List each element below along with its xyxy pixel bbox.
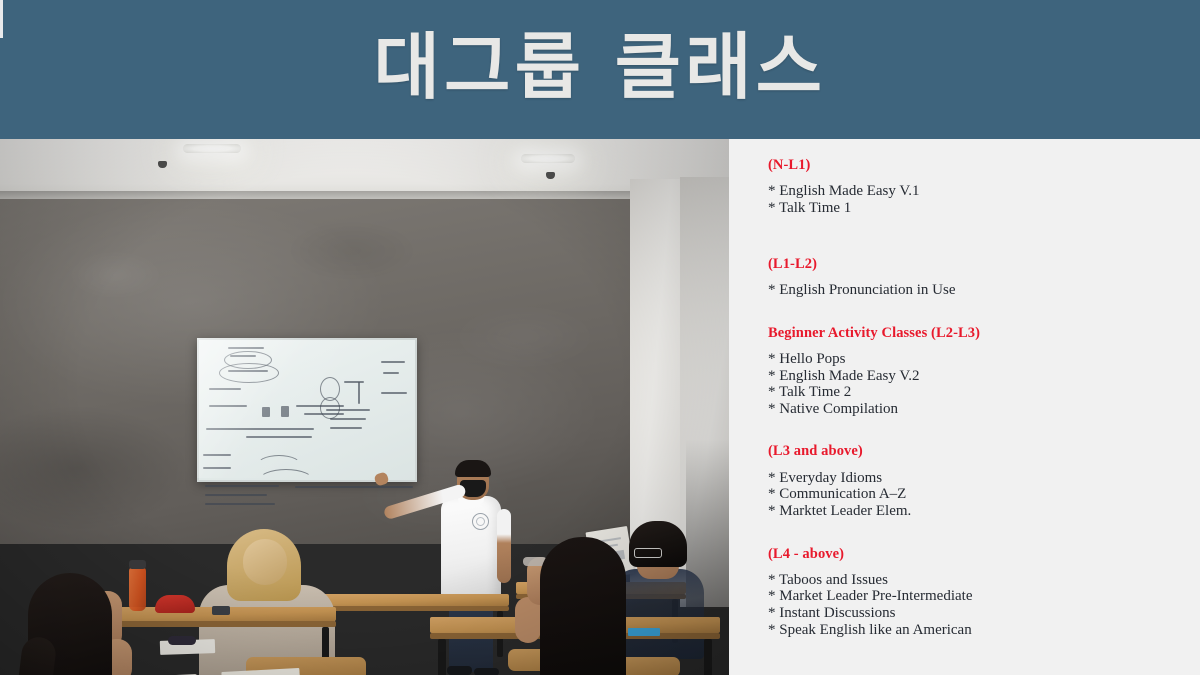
teacher-shoe [474, 668, 499, 675]
corner-notch [0, 0, 3, 38]
board-mark [209, 405, 247, 407]
student-hair-bun [243, 539, 287, 585]
list-item: * Hello Pops [768, 351, 1180, 368]
eyeglasses-icon [634, 548, 662, 558]
spacer [768, 417, 1180, 443]
water-bottle [129, 567, 146, 611]
bottle-cap [129, 560, 146, 569]
board-mark [205, 503, 275, 505]
spacer [768, 520, 1180, 546]
teacher-polo-shirt [441, 496, 501, 602]
blue-book [628, 628, 660, 636]
section-heading: Beginner Activity Classes (L2-L3) [768, 325, 1180, 342]
desk-surface [302, 594, 509, 606]
list-item: * Native Compilation [768, 401, 1180, 418]
board-mark [205, 485, 279, 487]
section-heading: (L4 - above) [768, 546, 1180, 563]
board-mark [262, 407, 270, 417]
ceiling-light-right-icon [521, 154, 575, 163]
board-mark [203, 467, 231, 469]
list-item: * Talk Time 1 [768, 200, 1180, 217]
phone [212, 606, 230, 615]
course-list: * Taboos and Issues * Market Leader Pre-… [768, 572, 1180, 638]
list-item: * English Pronunciation in Use [768, 282, 1180, 299]
student-hair [629, 521, 687, 567]
list-item: * Communication A–Z [768, 486, 1180, 503]
list-item: * Instant Discussions [768, 605, 1180, 622]
list-item: * Talk Time 2 [768, 384, 1180, 401]
desk-edge [96, 621, 336, 627]
course-section-l4-above: (L4 - above) * Taboos and Issues * Marke… [768, 546, 1180, 639]
red-cap [155, 595, 195, 613]
list-item: * Speak English like an American [768, 622, 1180, 639]
course-section-n-l1: (N-L1) * English Made Easy V.1 * Talk Ti… [768, 157, 1180, 217]
board-mark [330, 427, 362, 429]
board-mark [358, 382, 360, 404]
course-section-l3-and-above: (L3 and above) * Everyday Idioms * Commu… [768, 443, 1180, 519]
board-mark [383, 372, 399, 374]
course-list: * Hello Pops * English Made Easy V.2 * T… [768, 351, 1180, 417]
slide: 대그룹 클래스 [0, 0, 1200, 675]
student-long-black-hair [540, 537, 626, 675]
section-heading: (N-L1) [768, 157, 1180, 174]
course-section-l1-l2: (L1-L2) * English Pronunciation in Use [768, 256, 1180, 299]
board-mark [230, 355, 256, 357]
course-list: * Everyday Idioms * Communication A–Z * … [768, 470, 1180, 520]
list-item: * Taboos and Issues [768, 572, 1180, 589]
ceiling-light-left-icon [183, 144, 241, 153]
course-list: * English Pronunciation in Use [768, 282, 1180, 299]
board-mark [344, 381, 364, 383]
board-mark [258, 469, 314, 493]
course-list-panel: (N-L1) * English Made Easy V.1 * Talk Ti… [729, 139, 1200, 675]
list-item: * Everyday Idioms [768, 470, 1180, 487]
teacher-shoe [447, 666, 472, 675]
board-mark [219, 363, 279, 383]
board-mark [205, 494, 267, 496]
polo-chest-logo [472, 513, 489, 530]
board-mark [228, 370, 268, 372]
board-mark [203, 454, 231, 456]
board-mark [281, 406, 289, 417]
board-mark [381, 361, 405, 363]
sunglasses-icon [168, 636, 196, 645]
desk-leg [704, 639, 712, 675]
board-mark [246, 436, 312, 438]
list-item: * English Made Easy V.2 [768, 368, 1180, 385]
board-mark [206, 428, 314, 430]
teacher-arm [497, 509, 511, 583]
desk-leg [438, 639, 446, 675]
board-mark [381, 392, 407, 394]
spacer [768, 299, 1180, 325]
section-heading: (L3 and above) [768, 443, 1180, 460]
classroom-photo [0, 139, 729, 675]
slide-header: 대그룹 클래스 [0, 0, 1200, 139]
spacer [768, 217, 1180, 256]
board-mark [228, 347, 264, 349]
course-list: * English Made Easy V.1 * Talk Time 1 [768, 183, 1180, 216]
page-title: 대그룹 클래스 [374, 31, 827, 109]
sprinkler-left-icon [158, 161, 167, 168]
section-heading: (L1-L2) [768, 256, 1180, 273]
board-mark [295, 486, 413, 488]
teacher-hair [455, 460, 491, 477]
board-mark [320, 397, 340, 419]
list-item: * English Made Easy V.1 [768, 183, 1180, 200]
list-item: * Market Leader Pre-Intermediate [768, 588, 1180, 605]
board-mark [330, 418, 366, 420]
sprinkler-right-icon [546, 172, 555, 179]
list-item: * Marktet Leader Elem. [768, 503, 1180, 520]
course-section-beginner-activity: Beginner Activity Classes (L2-L3) * Hell… [768, 325, 1180, 418]
board-mark [209, 388, 241, 390]
